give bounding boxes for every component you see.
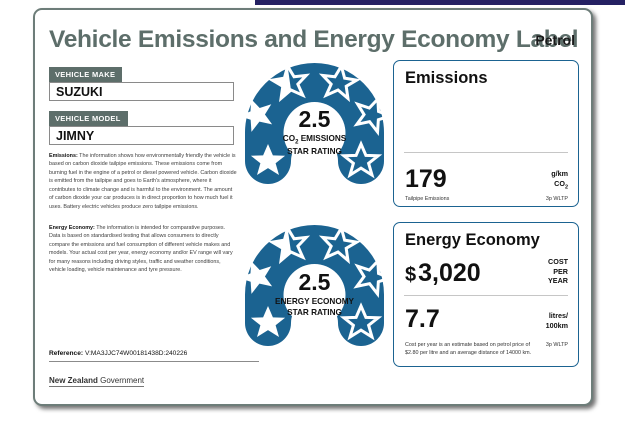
reference-label: Reference: bbox=[49, 350, 83, 357]
vehicle-make-label: VEHICLE MAKE bbox=[49, 67, 122, 82]
energy-economy-panel: Energy Economy $3,020 COST PER YEAR 7.7 … bbox=[393, 222, 579, 367]
top-accent-bar bbox=[255, 0, 625, 5]
energy-footnote-left: Cost per year is an estimate based on pe… bbox=[405, 341, 533, 357]
nz-government-logo-nz: New Zealand bbox=[49, 376, 98, 385]
energy-description: Energy Economy: The information is inten… bbox=[49, 224, 237, 275]
energy-panel-heading: Energy Economy bbox=[405, 231, 540, 250]
energy-badge-horseshoe-graphic bbox=[242, 222, 387, 367]
emissions-panel-divider bbox=[404, 152, 568, 153]
emissions-value: 179 bbox=[405, 167, 447, 192]
energy-cost-unit-line2: PER bbox=[553, 267, 568, 276]
page-title: Vehicle Emissions and Energy Economy Lab… bbox=[49, 26, 578, 54]
co2-badge-horseshoe-graphic bbox=[242, 60, 387, 205]
emissions-unit-line1: g/km bbox=[551, 169, 568, 178]
energy-cost-unit-line3: YEAR bbox=[548, 276, 568, 285]
emissions-description-heading: Emissions: bbox=[49, 153, 78, 159]
emissions-label-card: Vehicle Emissions and Energy Economy Lab… bbox=[33, 8, 593, 406]
vehicle-model-field: VEHICLE MODEL JIMNY bbox=[49, 108, 234, 145]
energy-consumption-unit: litres/ 100km bbox=[546, 311, 568, 330]
energy-cost-unit-line1: COST bbox=[548, 257, 568, 266]
vehicle-make-value: SUZUKI bbox=[49, 82, 234, 101]
energy-star-rating-badge: 2.5 ENERGY ECONOMY STAR RATING bbox=[242, 222, 387, 367]
nz-government-logo-word: Government bbox=[98, 376, 144, 385]
reference-line: Reference: V:MA3JJC74W00181438D:240226 bbox=[49, 350, 259, 362]
emissions-panel-heading: Emissions bbox=[405, 69, 488, 88]
energy-consumption-unit-line2: 100km bbox=[546, 321, 568, 330]
energy-footnote-right: 3p WLTP bbox=[546, 341, 568, 349]
vehicle-model-value: JIMNY bbox=[49, 126, 234, 145]
emissions-unit: g/km CO2 bbox=[551, 169, 568, 192]
emissions-footnote-right: 3p WLTP bbox=[546, 195, 568, 203]
vehicle-model-label: VEHICLE MODEL bbox=[49, 111, 128, 126]
energy-cost-currency: $ bbox=[405, 264, 416, 286]
emissions-description-body: The information shows how environmentall… bbox=[49, 153, 237, 210]
energy-consumption-unit-line1: litres/ bbox=[549, 311, 568, 320]
emissions-footnote-left: Tailpipe Emissions bbox=[405, 195, 449, 203]
co2-star-rating-badge: 2.5 CO2 EMISSIONS STAR RATING bbox=[242, 60, 387, 205]
energy-description-heading: Energy Economy: bbox=[49, 225, 95, 231]
nz-government-logo: New Zealand Government bbox=[49, 376, 144, 387]
fuel-type-badge: Petrol bbox=[535, 32, 575, 48]
emissions-panel: Emissions 179 g/km CO2 Tailpipe Emission… bbox=[393, 60, 579, 207]
energy-cost-unit: COST PER YEAR bbox=[548, 257, 568, 286]
energy-cost-amount: 3,020 bbox=[418, 259, 481, 287]
vehicle-make-field: VEHICLE MAKE SUZUKI bbox=[49, 64, 234, 101]
energy-consumption-value: 7.7 bbox=[405, 307, 440, 332]
emissions-description: Emissions: The information shows how env… bbox=[49, 152, 237, 211]
reference-value: V:MA3JJC74W00181438D:240226 bbox=[85, 350, 187, 357]
energy-panel-divider bbox=[404, 295, 568, 296]
energy-description-body: The information is intended for comparat… bbox=[49, 225, 233, 273]
energy-cost-value: $3,020 bbox=[405, 261, 481, 286]
